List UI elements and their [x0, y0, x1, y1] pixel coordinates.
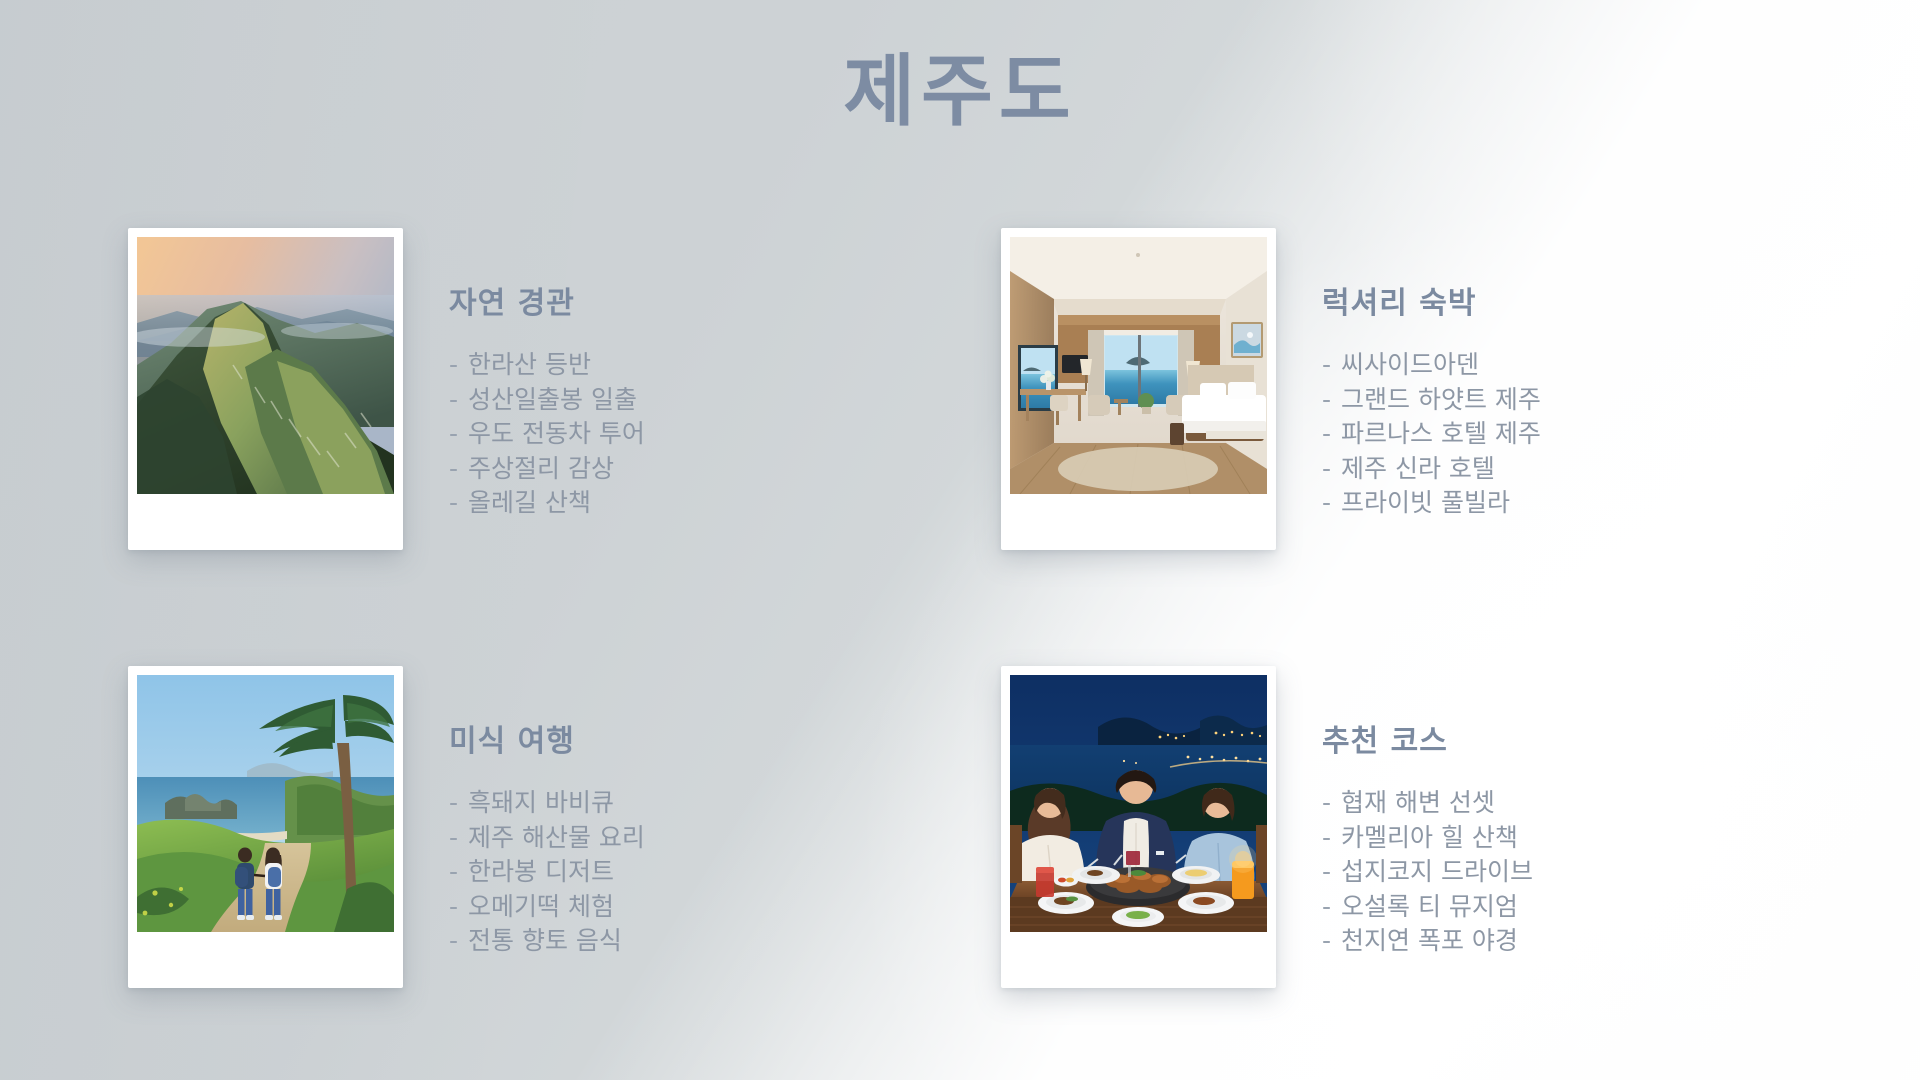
bullet-dash: - — [1322, 417, 1331, 452]
list-item[interactable]: -한라봉 디저트 — [449, 855, 645, 890]
card-course[interactable]: 추천 코스 -협재 해변 선셋 -카멜리아 힐 산책 -섭지코지 드라이브 -오… — [1001, 666, 1788, 1080]
list-item-label: 주상절리 감상 — [468, 452, 614, 487]
list-item-label: 천지연 폭포 야경 — [1341, 924, 1518, 959]
list-item[interactable]: -전통 향토 음식 — [449, 924, 645, 959]
bullet-dash: - — [1322, 924, 1331, 959]
list-item[interactable]: -우도 전동차 투어 — [449, 417, 645, 452]
list-item-label: 그랜드 하얏트 제주 — [1341, 383, 1541, 418]
list-item[interactable]: -오설록 티 뮤지엄 — [1322, 890, 1533, 925]
list-item[interactable]: -그랜드 하얏트 제주 — [1322, 383, 1541, 418]
bullet-dash: - — [449, 452, 458, 487]
card-stay[interactable]: 럭셔리 숙박 -씨사이드아덴 -그랜드 하얏트 제주 -파르나스 호텔 제주 -… — [1001, 228, 1788, 658]
bullet-dash: - — [1322, 855, 1331, 890]
list-item[interactable]: -천지연 폭포 야경 — [1322, 924, 1533, 959]
list-item-label: 올레길 산책 — [468, 486, 591, 521]
list-item[interactable]: -씨사이드아덴 — [1322, 348, 1541, 383]
bullet-dash: - — [449, 890, 458, 925]
bullet-dash: - — [1322, 821, 1331, 856]
bullet-dash: - — [449, 786, 458, 821]
bullet-dash: - — [1322, 452, 1331, 487]
card-title-course: 추천 코스 — [1322, 716, 1533, 760]
bullet-dash: - — [449, 855, 458, 890]
luxury-hotel-room-ocean-view-photo — [1010, 237, 1267, 494]
card-title-nature: 자연 경관 — [449, 278, 645, 322]
bullet-dash: - — [449, 383, 458, 418]
list-item[interactable]: -성산일출봉 일출 — [449, 383, 645, 418]
list-item[interactable]: -카멜리아 힐 산책 — [1322, 821, 1533, 856]
card-title-food: 미식 여행 — [449, 716, 645, 760]
list-item-label: 오설록 티 뮤지엄 — [1341, 890, 1518, 925]
card-text-food: 미식 여행 -흑돼지 바비큐 -제주 해산물 요리 -한라봉 디저트 -오메기떡… — [449, 666, 645, 959]
list-item[interactable]: -협재 해변 선셋 — [1322, 786, 1533, 821]
bullet-dash: - — [1322, 890, 1331, 925]
list-item-label: 제주 해산물 요리 — [468, 821, 645, 856]
bullet-dash: - — [449, 924, 458, 959]
list-item-label: 성산일출봉 일출 — [468, 383, 637, 418]
list-item-label: 오메기떡 체험 — [468, 890, 614, 925]
list-item-label: 우도 전동차 투어 — [468, 417, 645, 452]
card-text-course: 추천 코스 -협재 해변 선셋 -카멜리아 힐 산책 -섭지코지 드라이브 -오… — [1322, 666, 1533, 959]
list-item[interactable]: -제주 신라 호텔 — [1322, 452, 1541, 487]
list-item-label: 카멜리아 힐 산책 — [1341, 821, 1518, 856]
photo-frame-course — [1001, 666, 1276, 988]
list-item[interactable]: -흑돼지 바비큐 — [449, 786, 645, 821]
card-list-nature: -한라산 등반 -성산일출봉 일출 -우도 전동차 투어 -주상절리 감상 -올… — [449, 348, 645, 521]
list-item[interactable]: -한라산 등반 — [449, 348, 645, 383]
list-item-label: 전통 향토 음식 — [468, 924, 622, 959]
card-text-stay: 럭셔리 숙박 -씨사이드아덴 -그랜드 하얏트 제주 -파르나스 호텔 제주 -… — [1322, 228, 1541, 521]
bullet-dash: - — [449, 417, 458, 452]
list-item[interactable]: -파르나스 호텔 제주 — [1322, 417, 1541, 452]
card-list-food: -흑돼지 바비큐 -제주 해산물 요리 -한라봉 디저트 -오메기떡 체험 -전… — [449, 786, 645, 959]
photo-frame-food — [128, 666, 403, 988]
list-item[interactable]: -주상절리 감상 — [449, 452, 645, 487]
slide-canvas: 제주도 — [0, 0, 1920, 1080]
bullet-dash: - — [449, 486, 458, 521]
list-item-label: 협재 해변 선셋 — [1341, 786, 1495, 821]
card-list-course: -협재 해변 선셋 -카멜리아 힐 산책 -섭지코지 드라이브 -오설록 티 뮤… — [1322, 786, 1533, 959]
list-item[interactable]: -오메기떡 체험 — [449, 890, 645, 925]
bullet-dash: - — [1322, 786, 1331, 821]
page-title: 제주도 — [0, 48, 1920, 138]
card-title-stay: 럭셔리 숙박 — [1322, 278, 1541, 322]
list-item-label: 섭지코지 드라이브 — [1341, 855, 1533, 890]
bullet-dash: - — [1322, 348, 1331, 383]
list-item[interactable]: -프라이빗 풀빌라 — [1322, 486, 1541, 521]
list-item-label: 제주 신라 호텔 — [1341, 452, 1495, 487]
card-grid: 자연 경관 -한라산 등반 -성산일출봉 일출 -우도 전동차 투어 -주상절리… — [128, 228, 1788, 1080]
coastal-trail-hikers-photo — [137, 675, 394, 932]
bullet-dash: - — [1322, 383, 1331, 418]
card-text-nature: 자연 경관 -한라산 등반 -성산일출봉 일출 -우도 전동차 투어 -주상절리… — [449, 228, 645, 521]
bullet-dash: - — [449, 821, 458, 856]
photo-frame-stay — [1001, 228, 1276, 550]
list-item[interactable]: -섭지코지 드라이브 — [1322, 855, 1533, 890]
list-item-label: 씨사이드아덴 — [1341, 348, 1479, 383]
bullet-dash: - — [449, 348, 458, 383]
list-item-label: 흑돼지 바비큐 — [468, 786, 614, 821]
mountain-ridge-sunrise-photo — [137, 237, 394, 494]
list-item-label: 파르나스 호텔 제주 — [1341, 417, 1541, 452]
list-item-label: 한라산 등반 — [468, 348, 591, 383]
bullet-dash: - — [1322, 486, 1331, 521]
list-item-label: 프라이빗 풀빌라 — [1341, 486, 1510, 521]
photo-frame-nature — [128, 228, 403, 550]
card-nature[interactable]: 자연 경관 -한라산 등반 -성산일출봉 일출 -우도 전동차 투어 -주상절리… — [128, 228, 915, 658]
card-list-stay: -씨사이드아덴 -그랜드 하얏트 제주 -파르나스 호텔 제주 -제주 신라 호… — [1322, 348, 1541, 521]
list-item[interactable]: -올레길 산책 — [449, 486, 645, 521]
list-item[interactable]: -제주 해산물 요리 — [449, 821, 645, 856]
seaside-night-dining-photo — [1010, 675, 1267, 932]
card-food[interactable]: 미식 여행 -흑돼지 바비큐 -제주 해산물 요리 -한라봉 디저트 -오메기떡… — [128, 666, 915, 1080]
list-item-label: 한라봉 디저트 — [468, 855, 614, 890]
